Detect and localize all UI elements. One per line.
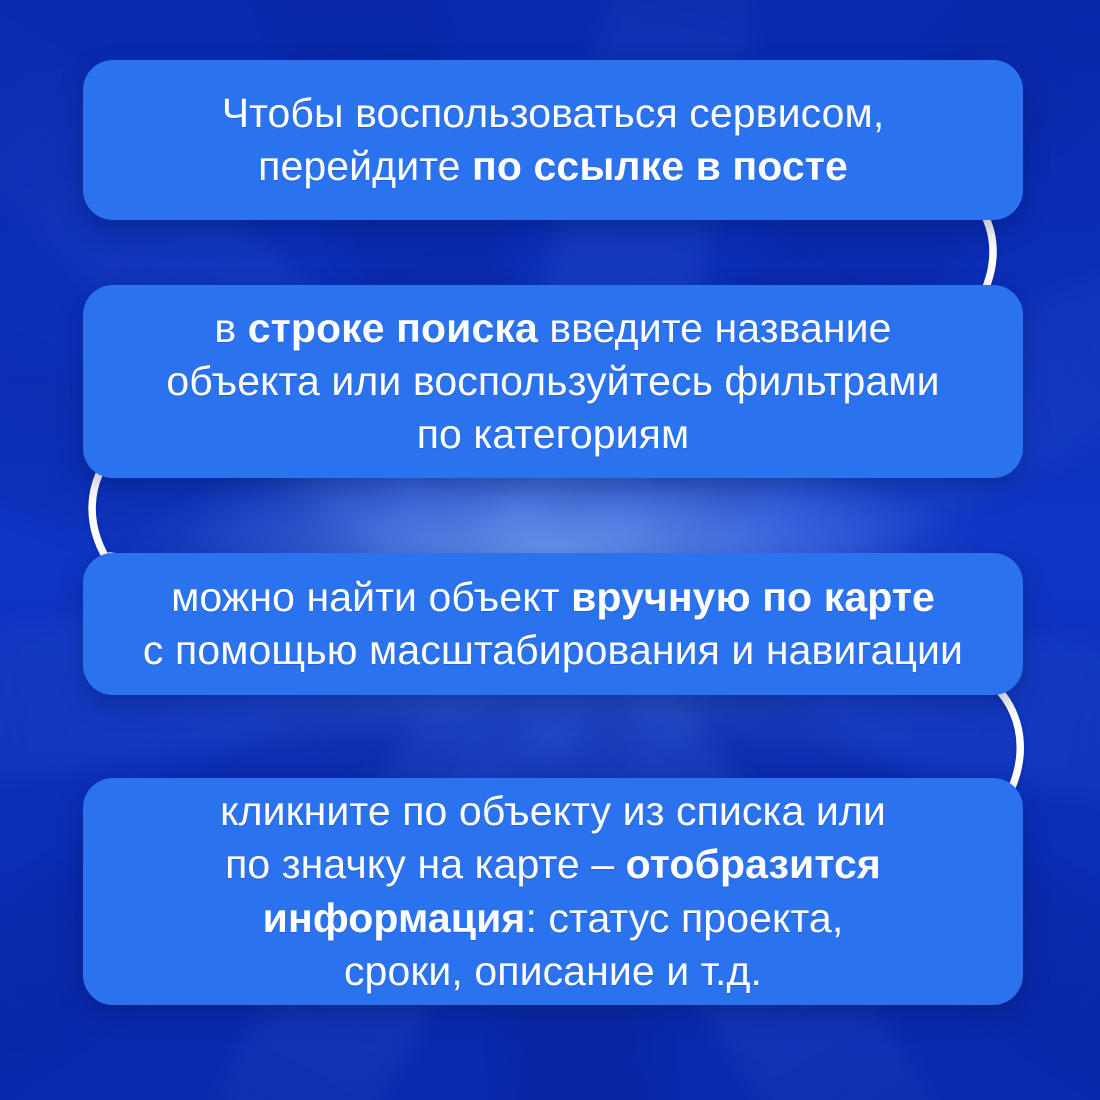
step-4-text: кликните по объекту из списка илипо знач…: [220, 785, 886, 998]
step-2-text: в строке поиска введите названиеобъекта …: [166, 302, 939, 462]
step-card-2[interactable]: в строке поиска введите названиеобъекта …: [83, 285, 1023, 478]
step-card-4[interactable]: кликните по объекту из списка илипо знач…: [83, 778, 1023, 1005]
step-card-3[interactable]: можно найти объект вручную по картес пом…: [83, 553, 1023, 695]
infographic-canvas: Чтобы воспользоваться сервисом,перейдите…: [0, 0, 1100, 1100]
step-1-text: Чтобы воспользоваться сервисом,перейдите…: [222, 87, 885, 194]
step-3-text: можно найти объект вручную по картес пом…: [143, 571, 963, 678]
step-card-1[interactable]: Чтобы воспользоваться сервисом,перейдите…: [83, 60, 1023, 220]
